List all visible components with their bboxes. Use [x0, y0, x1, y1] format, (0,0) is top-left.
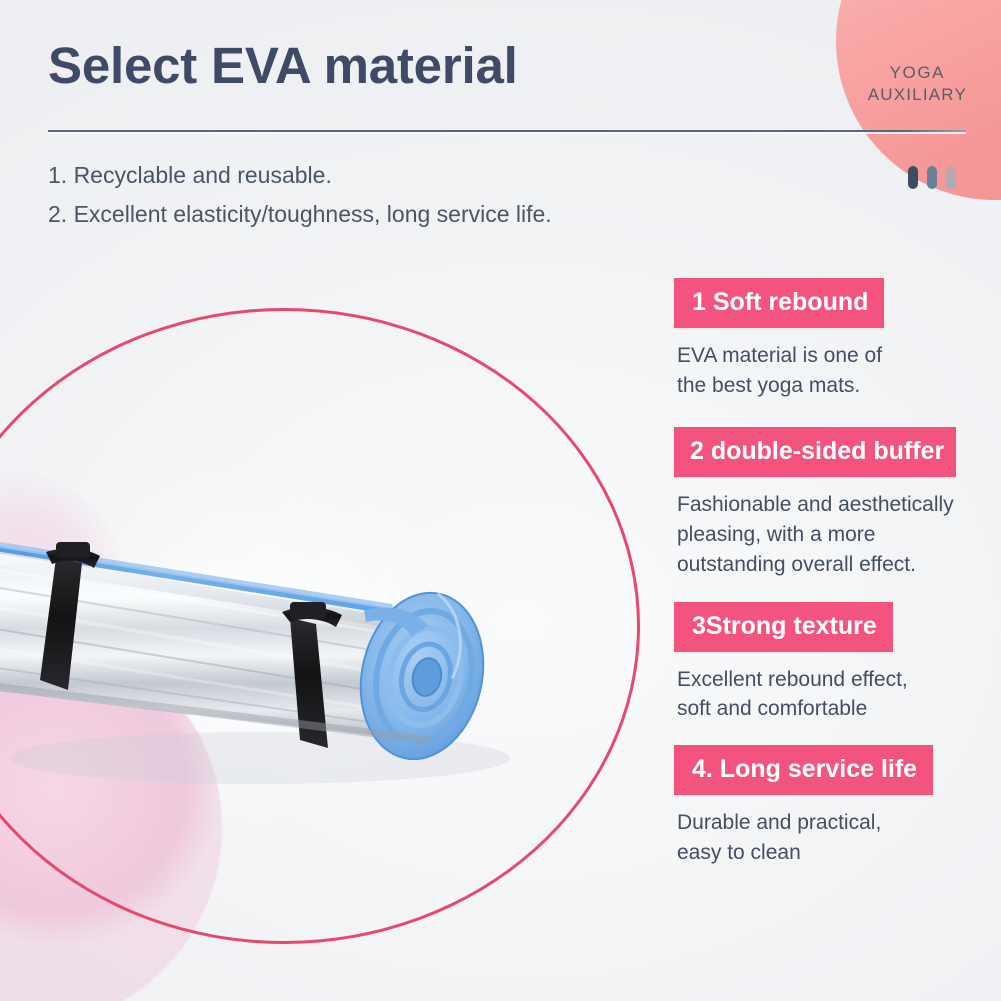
brand-bar-dark-icon: [908, 166, 918, 189]
feature-description: Excellent rebound effect, soft and comfo…: [674, 665, 1001, 723]
list-item: 2. Excellent elasticity/toughness, long …: [48, 195, 668, 234]
feature-description-line: EVA material is one of: [677, 341, 1001, 371]
feature-description: Durable and practical, easy to clean: [674, 808, 1001, 868]
brand-line-one: YOGA: [868, 62, 967, 84]
feature-description-line: Fashionable and aesthetically: [677, 490, 1001, 520]
feature-description-line: outstanding overall effect.: [677, 550, 1001, 580]
brand-line-two: AUXILIARY: [868, 84, 967, 106]
feature-description-line: pleasing, with a more: [677, 520, 1001, 550]
feature-description-line: easy to clean: [677, 838, 1001, 868]
bullet-list: 1. Recyclable and reusable. 2. Excellent…: [48, 156, 668, 234]
pink-blob-secondary-decoration: [0, 470, 130, 720]
feature-item-double-sided-buffer: 2 double-sided buffer Fashionable and ae…: [674, 427, 1001, 580]
brand-bar-slate-icon: [927, 166, 937, 189]
pink-blob-decoration: [0, 628, 222, 1001]
status-badge: 4. Long service life: [674, 745, 933, 795]
feature-description-line: Durable and practical,: [677, 808, 1001, 838]
page-title: Select EVA material: [48, 36, 518, 95]
status-badge: 3Strong texture: [674, 602, 893, 652]
feature-list: 1 Soft rebound EVA material is one of th…: [674, 278, 1001, 868]
title-divider: [48, 130, 966, 132]
yoga-mat-illustration: [0, 490, 580, 800]
feature-description-line: Excellent rebound effect,: [677, 665, 1001, 694]
background-sheen: [0, 380, 721, 1001]
product-highlight-ring: [0, 308, 640, 944]
feature-item-strong-texture: 3Strong texture Excellent rebound effect…: [674, 602, 1001, 723]
title-divider-highlight: [48, 132, 966, 134]
brand-bar-light-icon: [946, 166, 956, 189]
feature-description: Fashionable and aesthetically pleasing, …: [674, 490, 1001, 580]
brand-mark: YOGA AUXILIARY: [868, 62, 967, 107]
status-badge: 2 double-sided buffer: [674, 427, 956, 477]
feature-description: EVA material is one of the best yoga mat…: [674, 341, 1001, 401]
product-image-yoga-mat: [0, 490, 580, 800]
feature-item-long-service-life: 4. Long service life Durable and practic…: [674, 745, 1001, 868]
feature-description-line: the best yoga mats.: [677, 371, 1001, 401]
brand-bars-decoration: [908, 166, 956, 189]
status-badge: 1 Soft rebound: [674, 278, 884, 328]
infographic-poster: Select EVA material 1. Recyclable and re…: [0, 0, 1001, 1001]
feature-description-line: soft and comfortable: [677, 694, 1001, 723]
feature-item-soft-rebound: 1 Soft rebound EVA material is one of th…: [674, 278, 1001, 401]
list-item: 1. Recyclable and reusable.: [48, 156, 668, 195]
